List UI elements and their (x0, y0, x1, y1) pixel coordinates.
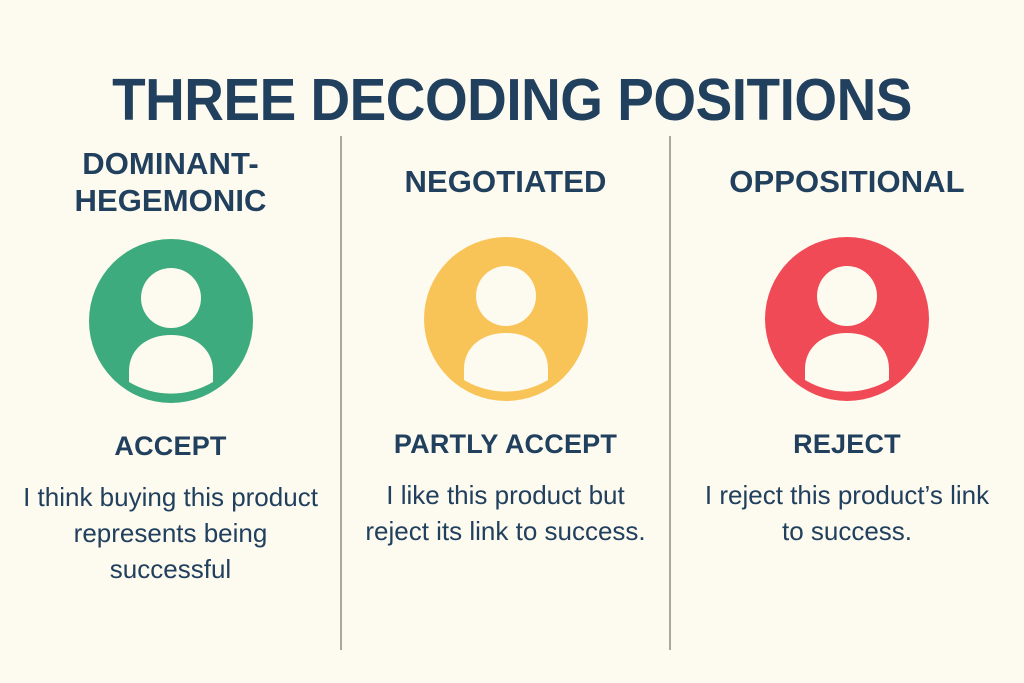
column-heading: DOMINANT-HEGEMONIC (0, 145, 341, 219)
column-heading: NEGOTIATED (397, 163, 615, 200)
column-heading: OPPOSITIONAL (721, 163, 972, 200)
person-avatar-icon (424, 237, 588, 401)
column-description: I like this product but reject its link … (344, 477, 668, 549)
decoding-positions-columns: DOMINANT-HEGEMONIC ACCEPT I think buying… (0, 136, 1024, 651)
column-description: I think buying this product represents b… (9, 479, 333, 587)
page-title: THREE DECODING POSITIONS (36, 68, 988, 132)
decoding-position-column-dominant-hegemonic: DOMINANT-HEGEMONIC ACCEPT I think buying… (0, 136, 341, 651)
decoding-position-column-negotiated: NEGOTIATED PARTLY ACCEPT I like this pro… (341, 136, 670, 651)
column-description: I reject this product’s link to success. (685, 477, 1009, 549)
column-verdict: PARTLY ACCEPT (394, 429, 617, 460)
person-avatar-icon (765, 237, 929, 401)
person-avatar-icon (89, 239, 253, 403)
decoding-position-column-oppositional: OPPOSITIONAL REJECT I reject this produc… (670, 136, 1024, 651)
column-verdict: ACCEPT (114, 431, 226, 462)
column-verdict: REJECT (793, 429, 901, 460)
infographic-poster: THREE DECODING POSITIONS DOMINANT-HEGEMO… (0, 0, 1024, 683)
